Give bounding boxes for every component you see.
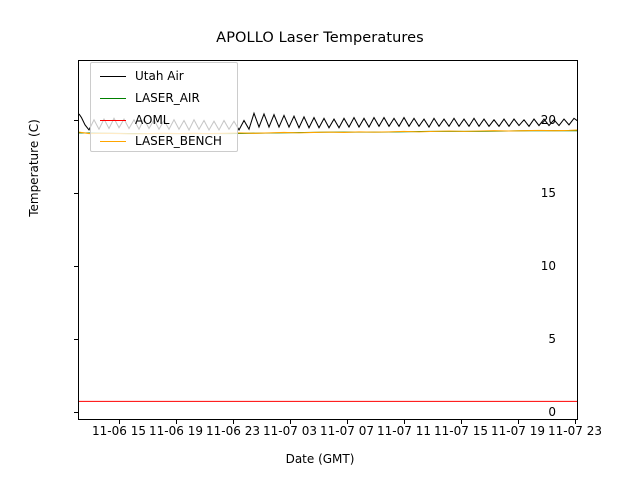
legend-label: AOML (135, 113, 169, 127)
y-axis-label: Temperature (C) (27, 0, 41, 348)
x-tick-mark (290, 420, 291, 424)
legend-item-laser-air[interactable]: LASER_AIR (91, 87, 237, 109)
x-tick-mark (575, 420, 576, 424)
legend-swatch-icon (100, 141, 126, 142)
x-axis-label: Date (GMT) (0, 452, 640, 466)
x-tick-label: 11-07 23 (548, 424, 602, 438)
x-tick-label: 11-06 19 (149, 424, 203, 438)
x-tick-mark (461, 420, 462, 424)
x-tick-mark (233, 420, 234, 424)
x-tick-mark (119, 420, 120, 424)
x-tick-mark (176, 420, 177, 424)
page-title: APOLLO Laser Temperatures (0, 30, 640, 46)
x-tick-mark (347, 420, 348, 424)
x-tick-label: 11-07 15 (434, 424, 488, 438)
legend: Utah Air LASER_AIR AOML LASER_BENCH (90, 62, 238, 152)
x-tick-label: 11-06 15 (92, 424, 146, 438)
x-tick-label: 11-07 03 (263, 424, 317, 438)
x-tick-label: 11-06 23 (206, 424, 260, 438)
legend-item-aoml[interactable]: AOML (91, 109, 237, 131)
legend-label: Utah Air (135, 69, 184, 83)
x-tick-mark (518, 420, 519, 424)
x-tick-label: 11-07 07 (320, 424, 374, 438)
figure-canvas: APOLLO Laser Temperatures Temperature (C… (0, 0, 640, 480)
x-tick-mark (404, 420, 405, 424)
x-tick-label: 11-07 19 (491, 424, 545, 438)
legend-label: LASER_AIR (135, 91, 200, 105)
legend-swatch-icon (100, 76, 126, 77)
legend-item-laser-bench[interactable]: LASER_BENCH (91, 130, 237, 152)
x-tick-label: 11-07 11 (377, 424, 431, 438)
legend-swatch-icon (100, 98, 126, 99)
legend-label: LASER_BENCH (135, 134, 222, 148)
legend-swatch-icon (100, 120, 126, 121)
legend-item-utah-air[interactable]: Utah Air (91, 65, 237, 87)
